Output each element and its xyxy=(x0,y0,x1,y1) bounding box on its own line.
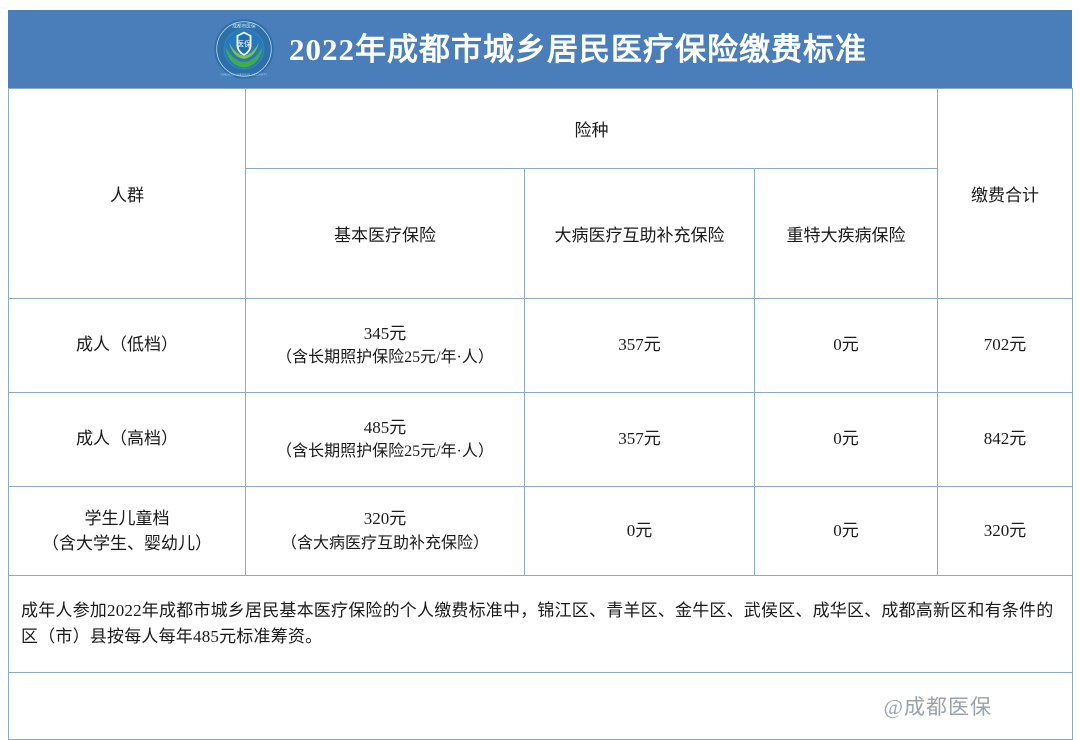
basic-note: （含长期照护保险25元/年·人） xyxy=(250,440,520,463)
row-total: 842元 xyxy=(938,393,1073,487)
row-serious-illness: 0元 xyxy=(525,487,755,576)
document-page: 医保 成都市医保 CHENGDU MEDICAL SECURITY 2022年成… xyxy=(0,0,1080,732)
row-group-label: 成人（低档） xyxy=(9,299,246,393)
basic-amount: 320元 xyxy=(250,507,520,532)
row-group-text-line2: （含大学生、婴幼儿） xyxy=(13,531,241,557)
row-critical-illness: 0元 xyxy=(755,299,938,393)
chengdu-medical-insurance-emblem-icon: 医保 成都市医保 CHENGDU MEDICAL SECURITY xyxy=(213,18,275,80)
row-total: 702元 xyxy=(938,299,1073,393)
page-title: 2022年成都市城乡居民医疗保险缴费标准 xyxy=(289,34,867,65)
header-total: 缴费合计 xyxy=(938,89,1073,299)
svg-text:医保: 医保 xyxy=(237,40,252,49)
row-group-text: 成人（低档） xyxy=(13,333,241,358)
basic-note: （含长期照护保险25元/年·人） xyxy=(250,346,520,369)
row-basic-insurance: 345元 （含长期照护保险25元/年·人） xyxy=(246,299,525,393)
footnote-text: 成年人参加2022年成都市城乡居民基本医疗保险的个人缴费标准中，锦江区、青羊区、… xyxy=(9,576,1073,673)
row-group-label: 学生儿童档 （含大学生、婴幼儿） xyxy=(9,487,246,576)
svg-text:成都市医保: 成都市医保 xyxy=(232,22,256,29)
row-group-text: 学生儿童档 xyxy=(13,506,241,532)
header-basic-medical-insurance: 基本医疗保险 xyxy=(246,169,525,299)
header-population: 人群 xyxy=(9,89,246,299)
premium-standards-table-wrapper: 人群 险种 缴费合计 基本医疗保险 大病医疗互助补充保险 重特大疾病保险 成人（… xyxy=(8,88,1072,740)
basic-note: （含大病医疗互助补充保险） xyxy=(250,532,520,555)
table-row: 成人（低档） 345元 （含长期照护保险25元/年·人） 357元 0元 702… xyxy=(9,299,1073,393)
svg-text:CHENGDU MEDICAL SECURITY: CHENGDU MEDICAL SECURITY xyxy=(221,73,268,77)
watermark-cell: @成都医保 xyxy=(9,673,1073,740)
footnote-row: 成年人参加2022年成都市城乡居民基本医疗保险的个人缴费标准中，锦江区、青羊区、… xyxy=(9,576,1073,673)
header-serious-illness-insurance: 大病医疗互助补充保险 xyxy=(525,169,755,299)
basic-amount: 485元 xyxy=(250,416,520,441)
watermark-text: @成都医保 xyxy=(884,695,992,719)
table-row: 成人（高档） 485元 （含长期照护保险25元/年·人） 357元 0元 842… xyxy=(9,393,1073,487)
row-group-text: 成人（高档） xyxy=(13,427,241,452)
row-critical-illness: 0元 xyxy=(755,487,938,576)
header-insurance-group: 险种 xyxy=(246,89,938,169)
title-banner: 医保 成都市医保 CHENGDU MEDICAL SECURITY 2022年成… xyxy=(8,10,1072,88)
basic-amount: 345元 xyxy=(250,322,520,347)
header-critical-illness-insurance: 重特大疾病保险 xyxy=(755,169,938,299)
row-serious-illness: 357元 xyxy=(525,393,755,487)
row-total: 320元 xyxy=(938,487,1073,576)
row-critical-illness: 0元 xyxy=(755,393,938,487)
watermark-row: @成都医保 xyxy=(9,673,1073,740)
row-serious-illness: 357元 xyxy=(525,299,755,393)
table-header-row-1: 人群 险种 缴费合计 xyxy=(9,89,1073,169)
row-basic-insurance: 485元 （含长期照护保险25元/年·人） xyxy=(246,393,525,487)
row-basic-insurance: 320元 （含大病医疗互助补充保险） xyxy=(246,487,525,576)
row-group-label: 成人（高档） xyxy=(9,393,246,487)
table-row: 学生儿童档 （含大学生、婴幼儿） 320元 （含大病医疗互助补充保险） 0元 0… xyxy=(9,487,1073,576)
premium-standards-table: 人群 险种 缴费合计 基本医疗保险 大病医疗互助补充保险 重特大疾病保险 成人（… xyxy=(8,88,1073,740)
